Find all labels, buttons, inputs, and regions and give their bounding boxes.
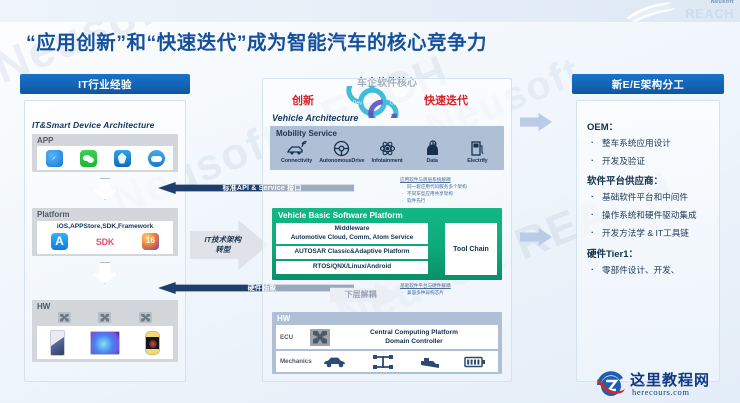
decoupling-note-bottom: 基础软件平台与硬件解耦 兼容多种异构芯片 xyxy=(400,283,512,297)
right-section-heading-hardware-tier1: 硬件Tier1： xyxy=(587,246,709,260)
charging-station-icon xyxy=(455,140,500,157)
atom-icon xyxy=(364,140,409,157)
right-item: 基础软件平台和中间件 xyxy=(587,192,709,203)
fast-iteration-label: 快速迭代 xyxy=(424,92,468,108)
innovation-label: 创新 xyxy=(292,92,314,108)
left-column-header: IT行业经验 xyxy=(20,74,190,94)
center-hw-panel: HW ECU Central Computing PlatformDomain … xyxy=(272,312,502,374)
tier-app: APP xyxy=(32,134,178,172)
right-item: 开发及验证 xyxy=(587,156,709,167)
tool-chain-box: Tool Chain xyxy=(445,223,497,275)
ecu-row: ECU Central Computing PlatformDomain Con… xyxy=(276,325,498,349)
iphone-icon xyxy=(50,330,65,356)
site-domain: herecours.com xyxy=(632,387,690,397)
central-computing-platform-label: Central Computing PlatformDomain Control… xyxy=(330,328,498,346)
note-item: 兼容多种异构芯片 xyxy=(400,290,512,297)
mobility-item-infotainment: Infotainment xyxy=(364,140,409,164)
apple-watch-icon xyxy=(145,331,160,355)
vbsp-row-rtos: RTOS/QNX/Linux/Android xyxy=(276,261,428,274)
page-title: “应用创新”和“快速迭代”成为智能汽车的核心竞争力 xyxy=(26,26,487,55)
tier-hw-devices xyxy=(37,326,173,359)
vbsp-header: Vehicle Basic Software Platform xyxy=(274,210,500,222)
chip-icon xyxy=(139,312,152,323)
vbsp-row-middleware: MiddlewareAutomotive Cloud, Comm, Atom S… xyxy=(276,223,428,244)
mobility-caption: Data xyxy=(410,158,455,164)
ecu-tag: ECU xyxy=(276,334,310,341)
page-header: Neusoft REACH xyxy=(0,0,740,22)
tier-platform-label: Platform xyxy=(37,210,69,219)
mobility-item-autonomousdrive: AutonomousDrive xyxy=(319,140,364,164)
vehicle-basic-software-platform: Vehicle Basic Software Platform Middlewa… xyxy=(272,208,502,280)
chip-icon xyxy=(310,329,330,346)
right-arrow-bottom xyxy=(520,228,552,246)
tier-platform-caption: iOS,APPStore,SDK,Framework xyxy=(37,223,173,230)
decoupling-note-top: 应用软件与底层系统解耦 同一套应用代码服务多个架构 不同车型应用共享架构 软件先… xyxy=(400,177,512,205)
tier-app-icons xyxy=(37,146,173,170)
z-swoosh-logo-icon xyxy=(596,370,626,400)
center-hw-label: HW xyxy=(277,314,290,323)
right-section-heading-software-vendor: 软件平台供应商： xyxy=(587,173,709,187)
chip-icon xyxy=(58,312,71,323)
connected-car-icon xyxy=(274,140,319,157)
site-watermark-logo: 这里教程网 herecours.com xyxy=(596,368,736,402)
note-item: 同一套应用代码服务多个架构 xyxy=(400,184,512,191)
right-item: 整车系统应用设计 xyxy=(587,138,709,149)
mobility-service-label: Mobility Service xyxy=(276,129,337,138)
sdk-icon: SDK xyxy=(96,237,114,247)
it-architecture-transform-arrow: IT技术架构转型 xyxy=(190,220,268,270)
brand-reach: REACH xyxy=(685,7,734,20)
right-item: 操作系统和硬件驱动集成 xyxy=(587,210,709,221)
it-architecture-transform-label: IT技术架构转型 xyxy=(190,235,248,255)
tier-app-label: APP xyxy=(37,136,53,145)
appstore-icon xyxy=(51,233,68,250)
mobility-item-electrify: Electrify xyxy=(455,140,500,164)
right-arrow-top xyxy=(520,113,552,131)
mobility-item-data: Data xyxy=(410,140,455,164)
mechanics-row: Mechanics xyxy=(276,351,498,372)
mobility-service-panel: Mobility Service Connectivity xyxy=(270,126,504,170)
ios16-icon xyxy=(142,233,159,250)
engine-icon xyxy=(418,355,440,369)
tier-platform-inner: iOS,APPStore,SDK,Framework SDK xyxy=(37,221,173,254)
safari-icon xyxy=(46,150,63,167)
note-heading: 应用软件与底层系统解耦 xyxy=(400,177,512,184)
note-heading: 基础软件平台与硬件解耦 xyxy=(400,283,512,290)
it-architecture-subtitle: IT&Smart Device Architecture xyxy=(32,120,154,130)
devops-dev-label: Dev xyxy=(353,101,362,107)
mobility-item-connectivity: Connectivity xyxy=(274,140,319,164)
brand-neusoft: Neusoft xyxy=(685,0,734,6)
right-column-header: 新E/E架构分工 xyxy=(572,74,724,94)
right-section-heading-oem: OEM： xyxy=(587,119,709,133)
head-data-icon xyxy=(410,140,455,157)
mobility-caption: Connectivity xyxy=(274,158,319,164)
weather-icon xyxy=(148,150,165,167)
alipay-icon xyxy=(114,150,131,167)
mobility-caption: Electrify xyxy=(455,158,500,164)
wechat-icon xyxy=(80,150,97,167)
right-item: 开发方法学 & IT工具链 xyxy=(587,228,709,239)
car-icon xyxy=(322,355,348,368)
chip-icon xyxy=(98,312,111,323)
steering-wheel-icon xyxy=(319,140,364,157)
right-item: 零部件设计、开发、 xyxy=(587,265,709,276)
devops-ops-label: Ops xyxy=(390,101,400,107)
note-item: 软件先行 xyxy=(400,198,512,205)
battery-icon xyxy=(464,356,486,368)
brand-logo: Neusoft REACH xyxy=(685,0,734,20)
tier-hw-label: HW xyxy=(37,302,50,311)
mobility-caption: AutonomousDrive xyxy=(319,158,364,164)
chassis-icon xyxy=(372,354,394,370)
tier-platform: Platform iOS,APPStore,SDK,Framework SDK xyxy=(32,208,178,256)
mobility-caption: Infotainment xyxy=(364,158,409,164)
note-item: 不同车型应用共享架构 xyxy=(400,191,512,198)
vehicle-architecture-label: Vehicle Architecture xyxy=(272,113,358,123)
ipad-icon xyxy=(90,331,120,355)
vbsp-row-autosar: AUTOSAR Classic&Adaptive Platform xyxy=(276,246,428,259)
mechanics-tag: Mechanics xyxy=(276,358,310,365)
right-column-body: OEM： 整车系统应用设计 开发及验证 软件平台供应商： 基础软件平台和中间件 … xyxy=(576,100,720,382)
tier-hw: HW xyxy=(32,300,178,362)
